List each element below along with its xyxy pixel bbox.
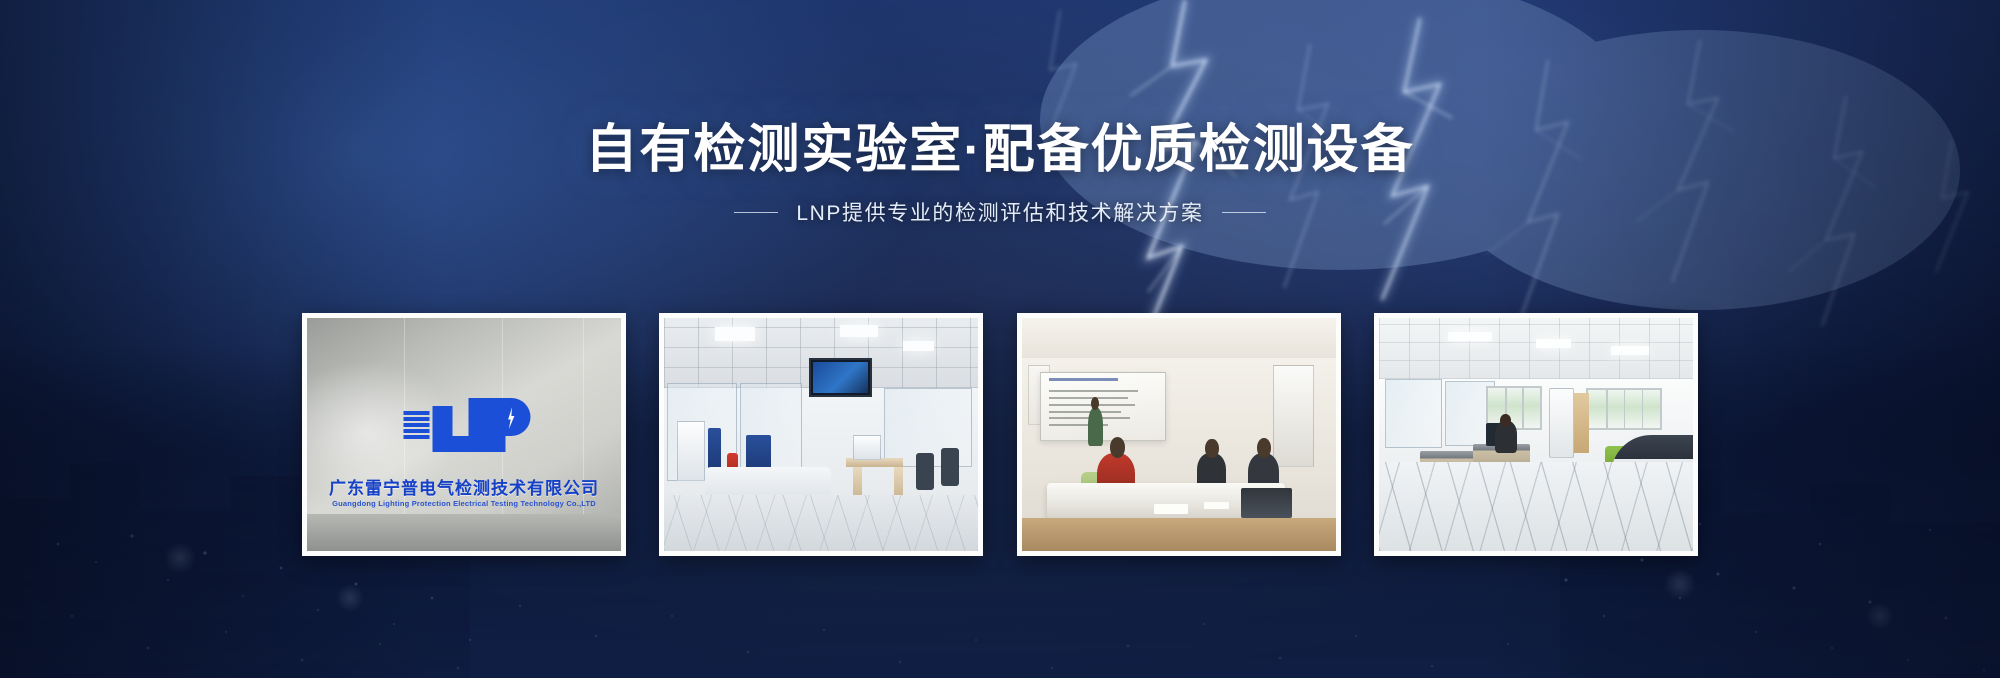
meeting-floor xyxy=(1022,518,1336,551)
glass-partition xyxy=(1385,379,1442,449)
office-floor xyxy=(1379,462,1693,551)
ceiling-light xyxy=(1448,332,1492,341)
gallery-photo-testing-laboratory[interactable] xyxy=(659,313,983,556)
lab-chair xyxy=(941,448,960,485)
projector-screen xyxy=(1040,372,1166,442)
gallery-photo-company-logo-wall[interactable]: 广东雷宁普电气检测技术有限公司 Guangdong Lighting Prote… xyxy=(302,313,626,556)
photo-image-office xyxy=(1379,318,1693,551)
page-title: 自有检测实验室·配备优质检测设备 xyxy=(0,120,2000,181)
company-name-cn: 广东雷宁普电气检测技术有限公司 xyxy=(329,474,599,499)
rule-right-decoration xyxy=(1222,212,1266,213)
person-standing xyxy=(1088,407,1104,447)
lab-chair xyxy=(916,453,935,490)
page-subtitle: LNP提供专业的检测评估和技术解决方案 xyxy=(0,197,2000,227)
photo-image-meeting-room xyxy=(1022,318,1336,551)
subtitle-text: LNP提供专业的检测评估和技术解决方案 xyxy=(796,197,1203,227)
document-paper xyxy=(1204,502,1229,509)
lab-equipment-panel xyxy=(677,421,705,482)
photo-gallery: 广东雷宁普电气检测技术有限公司 Guangdong Lighting Prote… xyxy=(302,313,1698,556)
office-shelf xyxy=(1574,393,1590,454)
lab-floor xyxy=(664,495,978,551)
photo-image-logo-wall: 广东雷宁普电气检测技术有限公司 Guangdong Lighting Prote… xyxy=(307,318,621,551)
gallery-photo-office-area[interactable] xyxy=(1374,313,1698,556)
person-head xyxy=(1110,437,1126,458)
meeting-ceiling xyxy=(1022,318,1336,358)
office-window xyxy=(1586,388,1661,430)
ceiling-light xyxy=(1536,339,1571,348)
wall-base xyxy=(307,514,621,551)
person-head xyxy=(1257,438,1271,458)
meeting-laptop xyxy=(1241,488,1291,518)
company-name-en: Guangdong Lighting Protection Electrical… xyxy=(332,499,596,508)
logo-letters-shape xyxy=(433,398,525,452)
ceiling-light xyxy=(715,327,756,341)
meeting-cabinet xyxy=(1273,365,1314,468)
ceiling-light xyxy=(1611,346,1649,355)
person-head xyxy=(1091,397,1099,410)
ceiling-light xyxy=(840,325,878,337)
lnp-logo-mark xyxy=(404,398,525,452)
lab-computer xyxy=(853,435,881,461)
wall-monitor xyxy=(809,358,872,398)
logo-bars-icon xyxy=(404,411,430,439)
photo-image-laboratory xyxy=(664,318,978,551)
office-cabinet-tall xyxy=(1549,388,1574,458)
hero-banner: 自有检测实验室·配备优质检测设备 LNP提供专业的检测评估和技术解决方案 xyxy=(0,0,2000,678)
rule-left-decoration xyxy=(734,212,778,213)
hero-copy: 自有检测实验室·配备优质检测设备 LNP提供专业的检测评估和技术解决方案 xyxy=(0,120,2000,227)
document-paper xyxy=(1154,504,1189,513)
gallery-photo-meeting-room[interactable] xyxy=(1017,313,1341,556)
ceiling-light xyxy=(903,341,934,350)
person-head xyxy=(1205,439,1218,458)
